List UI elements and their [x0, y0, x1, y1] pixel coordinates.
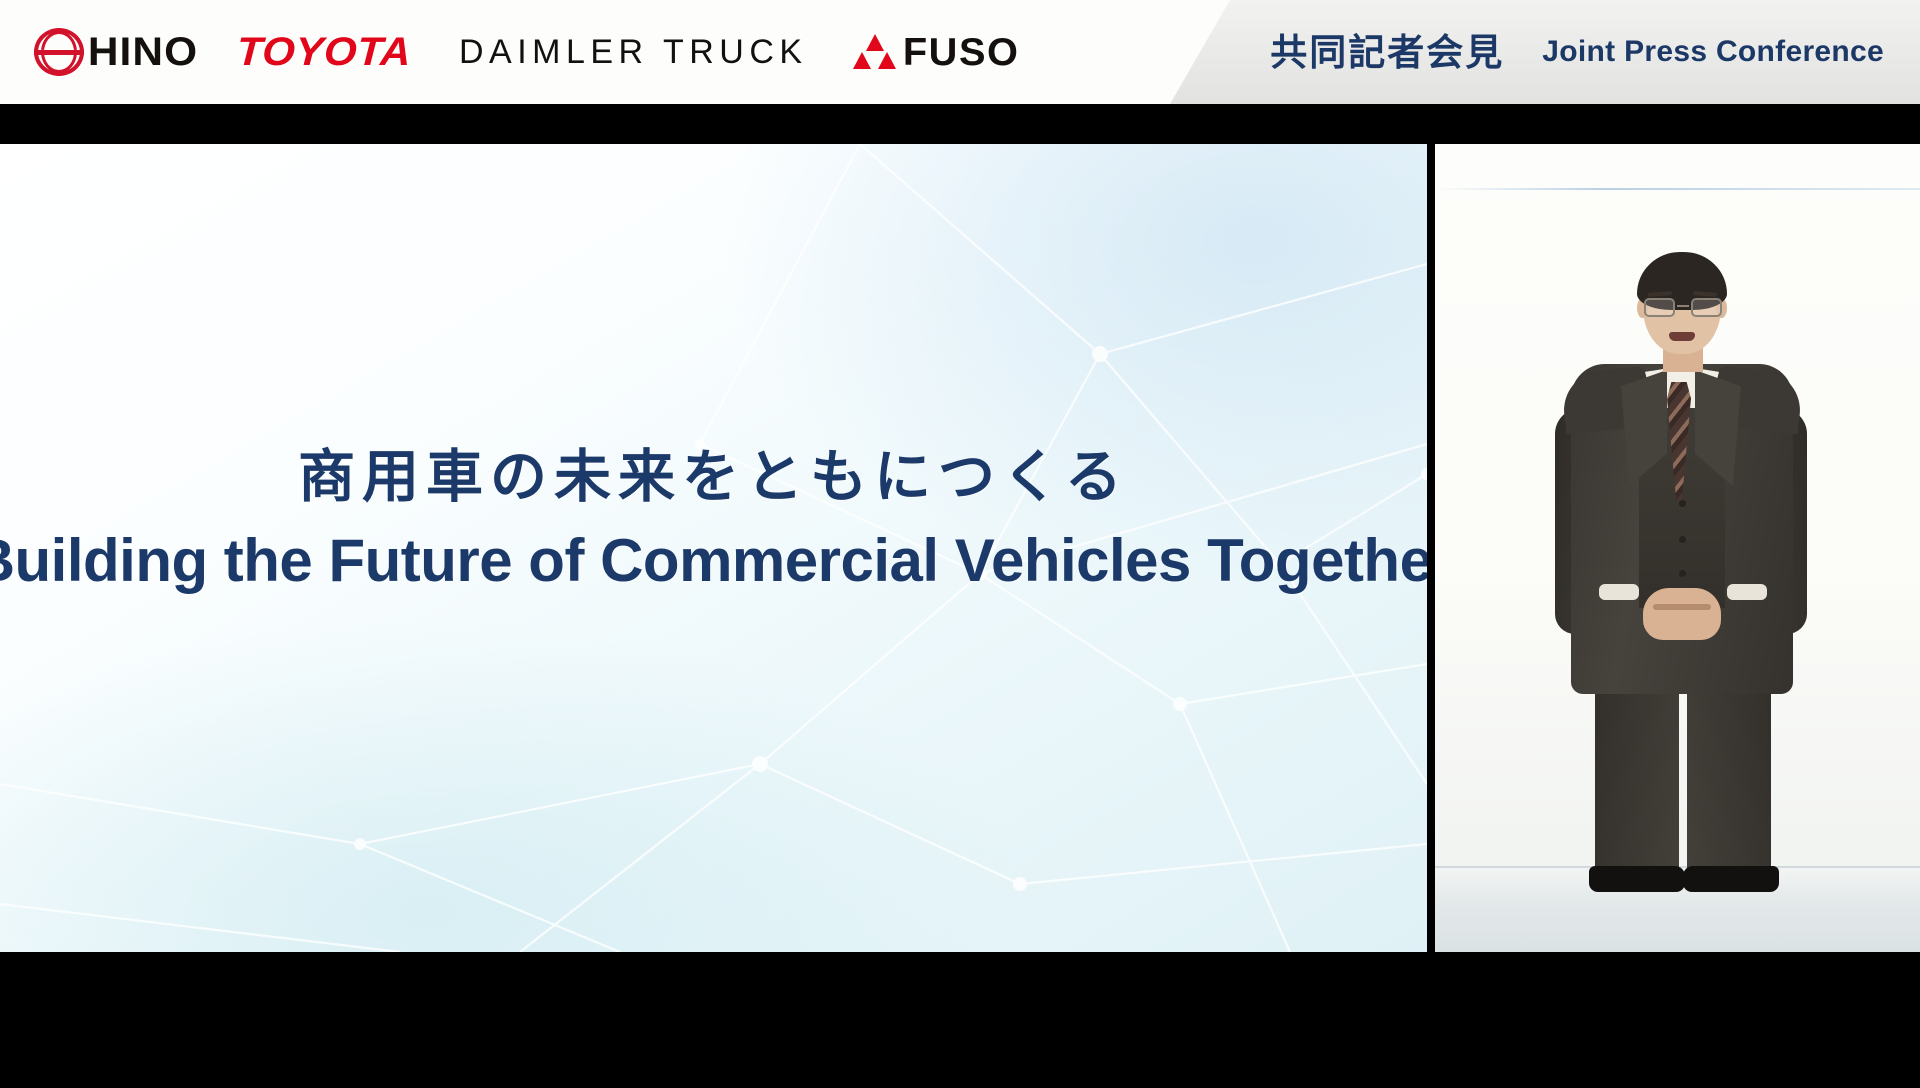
presenter-shoe-left — [1589, 866, 1685, 892]
presenter-shoe-right — [1683, 866, 1779, 892]
logo-hino: HINO — [34, 28, 195, 76]
presenter-clasped-hands — [1643, 588, 1721, 640]
logo-hino-wordmark: HINO — [88, 32, 198, 72]
presenter-mouth — [1669, 332, 1695, 341]
logo-fuso: FUSO — [852, 33, 1018, 72]
slide-title-english: Building the Future of Commercial Vehicl… — [0, 527, 1427, 594]
slide-title-japanese: 商用車の未来をともにつくる — [298, 442, 1129, 513]
header-bar: HINO TOYOTA DAIMLER TRUCK FUSO 共同記者会見 Jo… — [0, 0, 1920, 104]
presenter-leg-left — [1595, 682, 1679, 874]
logo-toyota: TOYOTA — [236, 32, 412, 72]
presenter-video-panel — [1435, 144, 1920, 952]
backdrop-seam-line — [1435, 188, 1920, 190]
mitsubishi-three-diamonds-icon — [852, 34, 896, 70]
presentation-slide: 商用車の未来をともにつくる Building the Future of Com… — [0, 144, 1427, 952]
presenter-cuff-left — [1599, 584, 1639, 600]
presenter-cuff-right — [1727, 584, 1767, 600]
presenter-glasses-icon — [1642, 298, 1724, 318]
presenter-legs — [1587, 682, 1777, 874]
hino-emblem-icon — [34, 28, 84, 76]
presenter-leg-right — [1687, 682, 1771, 874]
slide-text-block: 商用車の未来をともにつくる Building the Future of Com… — [0, 144, 1427, 952]
broadcast-screen: HINO TOYOTA DAIMLER TRUCK FUSO 共同記者会見 Jo… — [0, 0, 1920, 1088]
event-title-group: 共同記者会見 Joint Press Conference — [1270, 0, 1884, 104]
logo-daimler-truck: DAIMLER TRUCK — [459, 35, 808, 69]
brand-logo-group: HINO TOYOTA DAIMLER TRUCK FUSO — [0, 0, 1018, 104]
event-title-english: Joint Press Conference — [1542, 37, 1884, 67]
logo-fuso-wordmark: FUSO — [902, 33, 1019, 72]
presenter-figure — [1547, 258, 1817, 898]
content-row: 商用車の未来をともにつくる Building the Future of Com… — [0, 144, 1920, 952]
bottom-letterbox-band — [0, 952, 1920, 1088]
top-letterbox-band — [0, 104, 1920, 144]
event-title-japanese: 共同記者会見 — [1270, 34, 1504, 71]
